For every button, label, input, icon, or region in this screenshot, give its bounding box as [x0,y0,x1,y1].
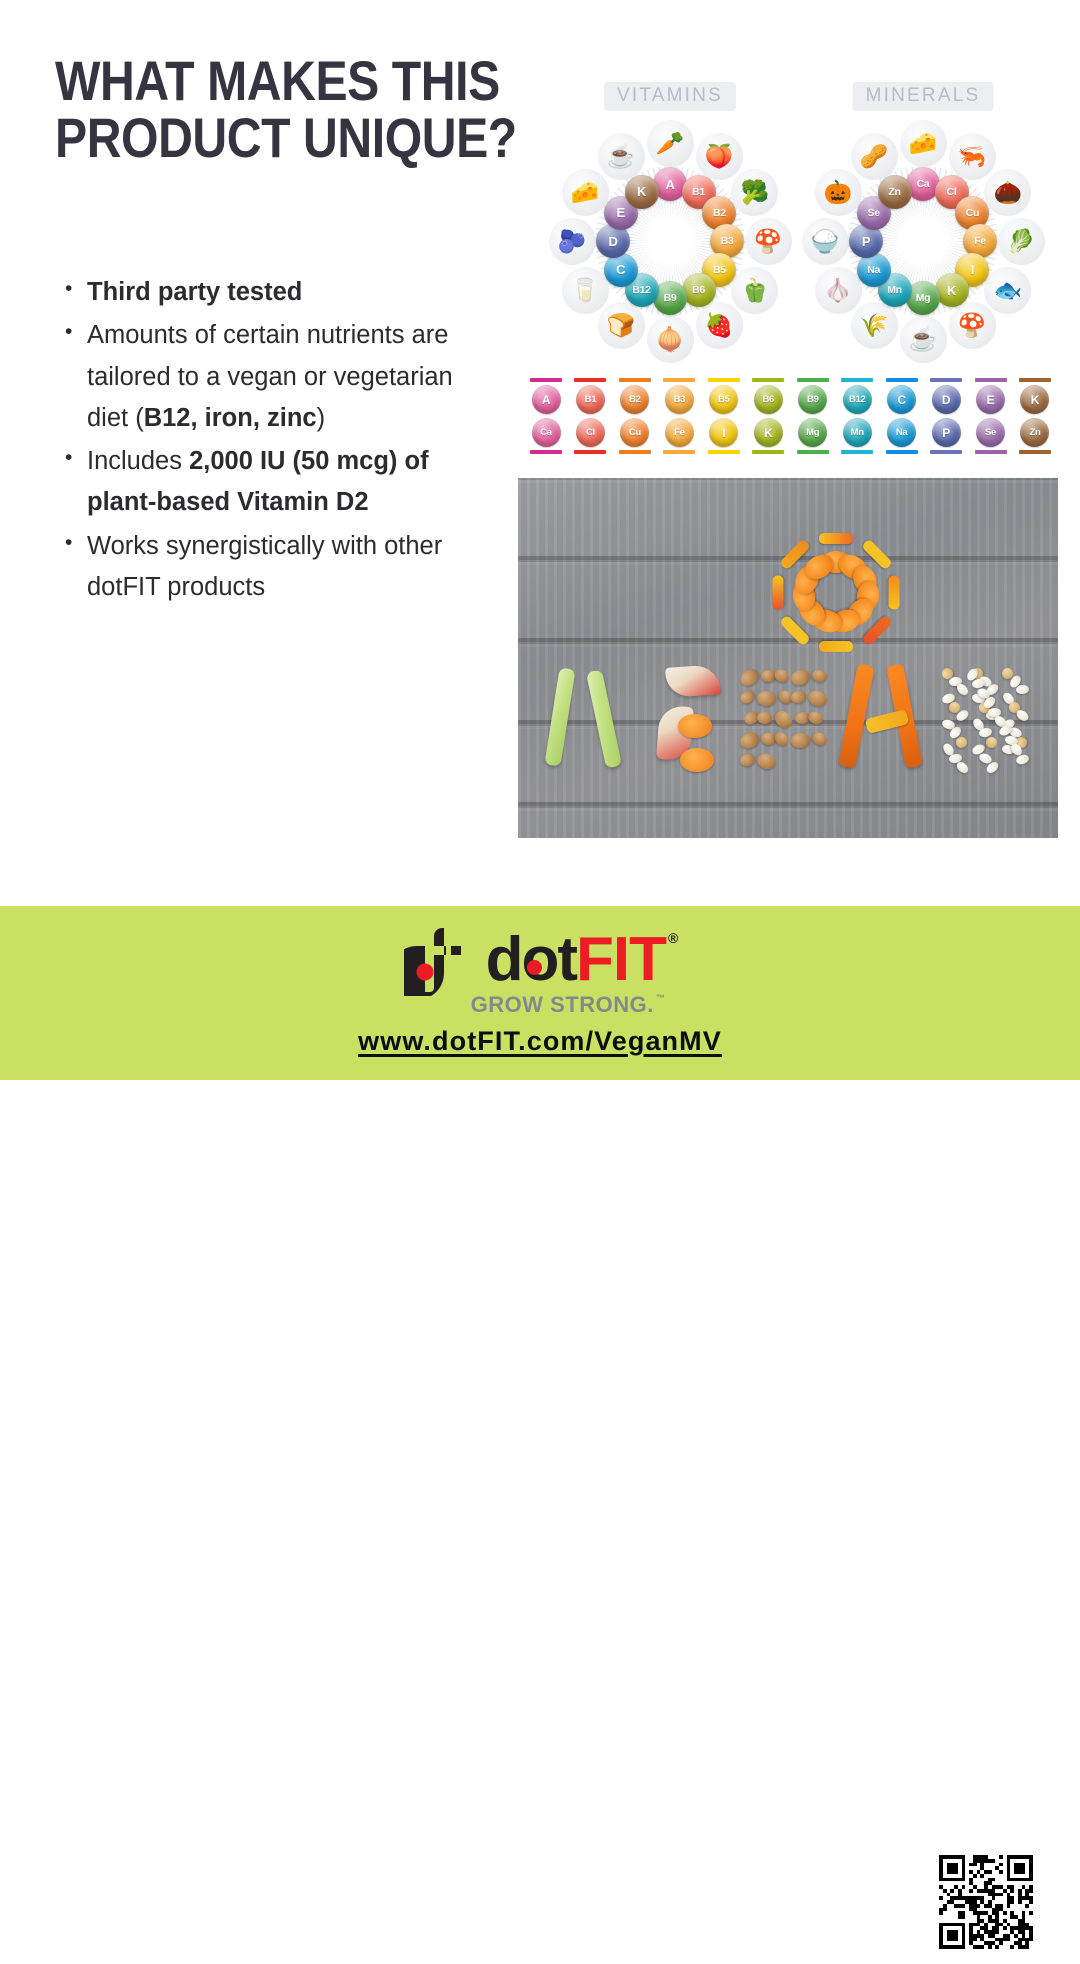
logo-row: dot FIT ® [404,924,677,996]
strip-bar-top [574,378,606,382]
sun-ray [819,641,853,652]
strip-bar-top [841,378,873,382]
food-illustration-icon: 🐟 [984,267,1031,314]
nutrient-badge-B6: B6 [682,273,716,307]
strip-bar-top [886,378,918,382]
strip-column-B1: B1Cl [572,378,608,454]
feature-bullet-list: •Third party tested•Amounts of certain n… [62,272,482,610]
strip-bar-bottom [1019,450,1051,454]
nutrient-badge-K: K [625,175,659,209]
bullet-marker-icon: • [62,441,87,475]
bullet-marker-icon: • [62,526,87,560]
strip-bar-bottom [752,450,784,454]
nutrient-badge-strip: ACaB1ClB2CuB3FeB5IB6KB9MgB12MnCNaDPESeKZ… [528,380,1053,452]
bullet-marker-icon: • [62,272,87,306]
brand-tagline-text: GROW STRONG. [471,992,654,1018]
strip-badge-B1: B1 [576,385,605,414]
brand-wordmark: dot FIT ® [486,929,677,991]
brand-tagline: GROW STRONG. ™ [471,992,666,1018]
food-illustration-icon: 🫑 [731,267,778,314]
mandarin-sun-graphic [756,520,916,670]
minerals-wheel-title: MINERALS [853,82,994,111]
strip-badge-E: E [976,385,1005,414]
feature-bullet-text: Third party tested [87,272,482,313]
food-illustration-icon: 🥕 [647,120,694,167]
minerals-wheel-ring: 🧀Ca🦐Cl🌰Cu🥬Fe🐟I🍄K☕Mg🌾Mn🧄Na🍚P🎃Se🥜Zn [802,120,1044,362]
strip-badge-B6: B6 [754,385,783,414]
mandarin-segment [680,748,714,772]
strip-column-B5: B5I [706,378,742,454]
strip-bar-top [619,378,651,382]
strip-badge-Se: Se [976,418,1005,447]
vegan-food-photo [518,478,1058,838]
strip-column-D: DP [928,378,964,454]
footer-band: dot FIT ® GROW STRONG. ™ www.dotFIT.com/… [0,906,1080,1080]
strip-bar-bottom [663,450,695,454]
qr-code-card[interactable] [924,1840,1048,1964]
feature-bullet-3: •Includes 2,000 IU (50 mcg) of plant-bas… [62,441,482,524]
strip-badge-B2: B2 [620,385,649,414]
strip-bar-bottom [930,450,962,454]
strip-badge-Na: Na [887,418,916,447]
website-url-link[interactable]: www.dotFIT.com/VeganMV [358,1026,722,1057]
strip-badge-Fe: Fe [665,418,694,447]
strip-badge-B3: B3 [665,385,694,414]
food-illustration-icon: 🦐 [949,133,996,180]
strip-column-B12: B12Mn [839,378,875,454]
strip-bar-top [530,378,562,382]
food-illustration-icon: 🍚 [802,218,849,265]
strip-bar-bottom [619,450,651,454]
page-title: WHAT MAKES THIS PRODUCT UNIQUE? [55,52,459,166]
feature-bullet-2: •Amounts of certain nutrients are tailor… [62,315,482,439]
strip-badge-B5: B5 [709,385,738,414]
food-illustration-icon: 🥬 [998,218,1045,265]
strip-bar-bottom [797,450,829,454]
strip-bar-bottom [886,450,918,454]
strip-column-E: ESe [973,378,1009,454]
strip-column-B3: B3Fe [661,378,697,454]
strip-bar-bottom [574,450,606,454]
strip-badge-C: C [887,385,916,414]
strip-bar-top [752,378,784,382]
strip-bar-top [1019,378,1051,382]
food-illustration-icon: 🥛 [562,267,609,314]
minerals-wheel: MINERALS 🧀Ca🦐Cl🌰Cu🥬Fe🐟I🍄K☕Mg🌾Mn🧄Na🍚P🎃Se🥜… [798,82,1048,377]
qr-code-icon[interactable] [939,1855,1033,1949]
strip-badge-B12: B12 [843,385,872,414]
strip-bar-top [930,378,962,382]
strip-badge-D: D [932,385,961,414]
vitamins-wheel-title: VITAMINS [604,82,736,111]
food-illustration-icon: 🎃 [815,169,862,216]
strip-badge-I: I [709,418,738,447]
df-monogram-icon [404,924,476,996]
strip-bar-bottom [708,450,740,454]
food-illustration-icon: 🫐 [549,218,596,265]
nutrient-badge-Zn: Zn [878,175,912,209]
food-illustration-icon: 🌰 [984,169,1031,216]
strip-badge-K: K [1020,385,1049,414]
food-illustration-icon: 🥦 [731,169,778,216]
strip-badge-Cu: Cu [620,418,649,447]
strip-badge-B9: B9 [798,385,827,414]
food-illustration-icon: 🌾 [851,302,898,349]
brand-lockup: dot FIT ® GROW STRONG. ™ www.dotFIT.com/… [0,924,1080,1057]
food-illustration-icon: 🧄 [815,267,862,314]
strip-bar-top [708,378,740,382]
strip-bar-top [975,378,1007,382]
food-illustration-icon: 🧅 [647,316,694,363]
food-illustration-icon: 🍄 [745,218,792,265]
strip-badge-Cl: Cl [576,418,605,447]
strip-column-B6: B6K [750,378,786,454]
strip-column-B2: B2Cu [617,378,653,454]
feature-bullet-text: Amounts of certain nutrients are tailore… [87,315,482,439]
sun-ray [773,576,784,610]
strip-column-C: CNa [884,378,920,454]
trademark-icon: ™ [656,993,666,1003]
sun-ray [889,576,900,610]
food-illustration-icon: 🍄 [949,302,996,349]
strip-badge-Mn: Mn [843,418,872,447]
brand-fit-text: FIT [576,929,666,991]
feature-bullet-4: •Works synergistically with other dotFIT… [62,526,482,609]
strip-badge-P: P [932,418,961,447]
strip-column-A: ACa [528,378,564,454]
strip-badge-Ca: Ca [532,418,561,447]
strip-badge-A: A [532,385,561,414]
sun-ray [819,533,853,544]
feature-bullet-text: Works synergistically with other dotFIT … [87,526,482,609]
nutrient-badge-K: K [935,273,969,307]
strip-bar-bottom [841,450,873,454]
mandarin-segment [678,714,712,738]
food-illustration-icon: 🧀 [562,169,609,216]
strip-bar-top [797,378,829,382]
nutrient-wheels: VITAMINS 🥕A🍑B1🥦B2🍄B3🫑B5🍓B6🧅B9🍞B12🥛C🫐D🧀E☕… [520,82,1065,377]
food-illustration-icon: 🧀 [900,120,947,167]
registered-trademark-icon: ® [668,931,676,945]
bullet-marker-icon: • [62,315,87,349]
vitamins-wheel: VITAMINS 🥕A🍑B1🥦B2🍄B3🫑B5🍓B6🧅B9🍞B12🥛C🫐D🧀E☕… [545,82,795,377]
strip-bar-top [663,378,695,382]
strip-bar-bottom [530,450,562,454]
vitamins-wheel-ring: 🥕A🍑B1🥦B2🍄B3🫑B5🍓B6🧅B9🍞B12🥛C🫐D🧀E☕K [549,120,791,362]
food-illustration-icon: 🍞 [598,302,645,349]
strip-column-K: KZn [1017,378,1053,454]
feature-bullet-1: •Third party tested [62,272,482,313]
strip-badge-Mg: Mg [798,418,827,447]
food-illustration-icon: 🍑 [696,133,743,180]
page-title-line-1: WHAT MAKES THIS [55,52,459,109]
page-title-line-2: PRODUCT UNIQUE? [55,109,459,166]
food-illustration-icon: 🥜 [851,133,898,180]
brand-red-dot-icon [527,960,542,975]
strip-badge-Zn: Zn [1020,418,1049,447]
food-illustration-icon: ☕ [900,316,947,363]
feature-bullet-text: Includes 2,000 IU (50 mcg) of plant-base… [87,441,482,524]
strip-badge-K: K [754,418,783,447]
strip-bar-bottom [975,450,1007,454]
strip-column-B9: B9Mg [795,378,831,454]
food-illustration-icon: 🍓 [696,302,743,349]
food-illustration-icon: ☕ [598,133,645,180]
